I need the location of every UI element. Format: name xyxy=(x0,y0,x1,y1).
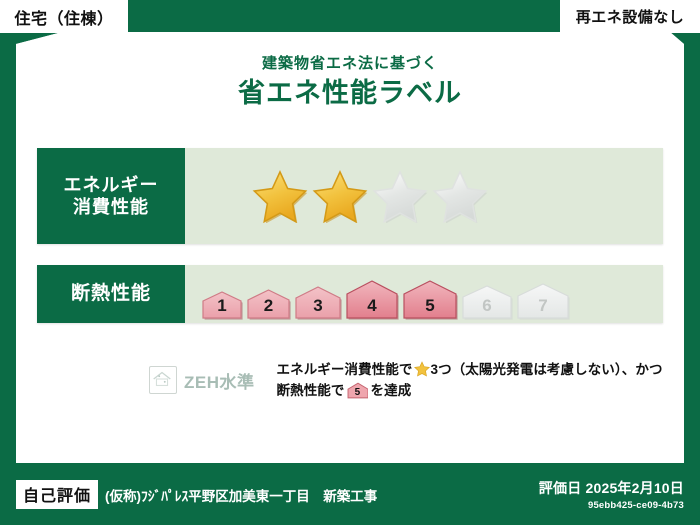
inline-grade-house-icon: 5 xyxy=(347,382,369,399)
insulation-performance-value: 1234567 xyxy=(185,265,663,323)
house-shape-icon xyxy=(402,279,458,320)
inline-grade-number: 5 xyxy=(347,388,369,398)
zeh-label: ZEH水準 xyxy=(184,368,255,393)
insulation-grade-house: 4 xyxy=(345,279,399,320)
house-shape-icon xyxy=(516,282,570,320)
energy-key-line1: エネルギー xyxy=(64,174,159,197)
achievement-note: エネルギー消費性能で3つ（太陽光発電は考慮しない）、かつ断熱性能で5を達成 xyxy=(277,360,664,402)
page-title: 省エネ性能ラベル xyxy=(0,79,700,107)
insulation-grade-house: 3 xyxy=(294,285,342,320)
star-empty-icon xyxy=(432,169,488,223)
house-shape-icon xyxy=(345,279,399,320)
insulation-grade-house: 2 xyxy=(246,288,291,320)
label-heading: 建築物省エネ法に基づく 省エネ性能ラベル xyxy=(0,56,700,107)
star-empty-icon xyxy=(372,169,428,223)
note-text-part4: を達成 xyxy=(371,383,412,398)
note-text-part1: エネルギー消費性能で xyxy=(277,362,413,377)
zeh-mark-icon xyxy=(150,367,174,391)
renewable-equipment-label: 再エネ設備なし xyxy=(576,6,685,27)
energy-performance-row: エネルギー 消費性能 xyxy=(37,148,663,244)
project-name: (仮称)ﾌｼﾞﾊﾟﾚｽ平野区加美東一丁目 新築工事 xyxy=(105,485,377,505)
building-type-label: 住宅（住棟） xyxy=(14,5,113,29)
house-shape-icon xyxy=(201,290,243,320)
zeh-house-icon xyxy=(149,366,177,394)
zeh-note-area: ZEH水準 エネルギー消費性能で3つ（太陽光発電は考慮しない）、かつ断熱性能で5… xyxy=(37,358,663,420)
heading-subtitle: 建築物省エネ法に基づく xyxy=(0,56,700,71)
insulation-grade-scale: 1234567 xyxy=(201,265,570,323)
insulation-grade-house: 1 xyxy=(201,290,243,320)
energy-performance-value xyxy=(185,148,663,244)
label-id: 95ebb425-ce09-4b73 xyxy=(539,500,684,511)
evaluation-date: 評価日 2025年2月10日 xyxy=(539,478,684,498)
house-shape-icon xyxy=(461,284,513,320)
house-shape-icon xyxy=(294,285,342,320)
status-badge: 自己評価 xyxy=(16,480,98,509)
insulation-key-label: 断熱性能 xyxy=(71,282,151,306)
insulation-performance-key: 断熱性能 xyxy=(37,265,185,323)
renewable-equipment-tab: 再エネ設備なし xyxy=(560,0,700,33)
energy-key-line2: 消費性能 xyxy=(73,196,149,219)
footer-left: 自己評価 (仮称)ﾌｼﾞﾊﾟﾚｽ平野区加美東一丁目 新築工事 xyxy=(16,480,539,509)
insulation-grade-house: 5 xyxy=(402,279,458,320)
star-rating xyxy=(252,169,488,223)
insulation-performance-row: 断熱性能 1234567 xyxy=(37,265,663,323)
zeh-standard-mark: ZEH水準 xyxy=(149,366,255,394)
insulation-grade-house: 7 xyxy=(516,282,570,320)
house-shape-icon xyxy=(246,288,291,320)
inline-star-icon xyxy=(414,361,430,377)
star-filled-icon xyxy=(252,169,308,223)
label-footer: 自己評価 (仮称)ﾌｼﾞﾊﾟﾚｽ平野区加美東一丁目 新築工事 評価日 2025年… xyxy=(0,463,700,525)
energy-performance-label: 住宅（住棟） 再エネ設備なし 建築物省エネ法に基づく 省エネ性能ラベル エネルギ… xyxy=(0,0,700,525)
star-filled-icon xyxy=(312,169,368,223)
footer-right: 評価日 2025年2月10日 95ebb425-ce09-4b73 xyxy=(539,478,684,511)
note-text-part2: 3つ（太陽光発電 xyxy=(431,362,534,377)
building-type-tab: 住宅（住棟） xyxy=(0,0,128,33)
insulation-grade-house: 6 xyxy=(461,284,513,320)
energy-performance-key: エネルギー 消費性能 xyxy=(37,148,185,244)
